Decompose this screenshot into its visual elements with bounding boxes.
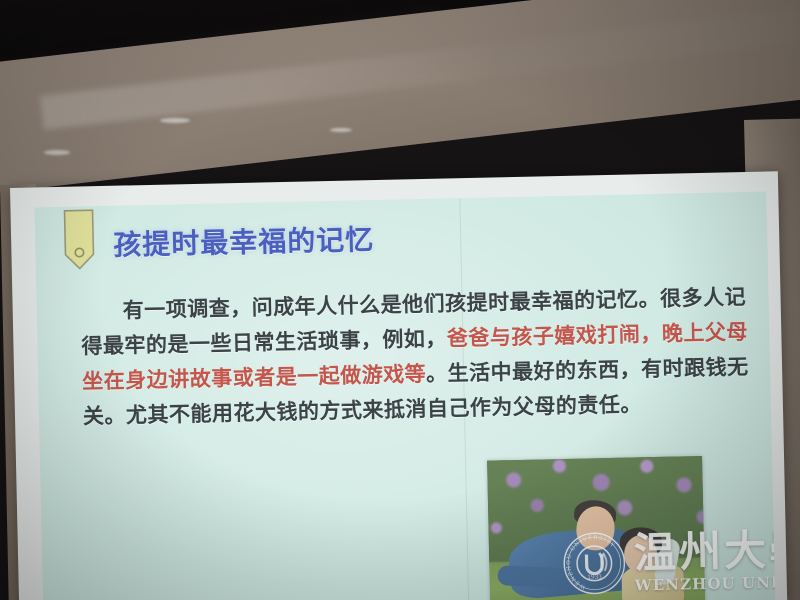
wall-scuff <box>160 118 190 123</box>
bookmark-tag-icon <box>62 208 95 271</box>
presentation-slide: 孩提时最幸福的记忆 有一项调查，问成年人什么是他们孩提时最幸福的记忆。很多人记得… <box>34 192 775 600</box>
screenshot-stage: 孩提时最幸福的记忆 有一项调查，问成年人什么是他们孩提时最幸福的记忆。很多人记得… <box>0 0 800 600</box>
wall-scuff <box>330 128 352 132</box>
father-and-child-photo <box>487 456 705 600</box>
slide-title: 孩提时最幸福的记忆 <box>113 218 375 264</box>
projection-screen: 孩提时最幸福的记忆 有一项调查，问成年人什么是他们孩提时最幸福的记忆。很多人记得… <box>10 171 787 600</box>
slide-body-text: 有一项调查，问成年人什么是他们孩提时最幸福的记忆。很多人记得最牢的是一些日常生活… <box>80 280 755 435</box>
photo-washout-overlay <box>487 456 705 600</box>
wall-scuff <box>44 150 70 155</box>
